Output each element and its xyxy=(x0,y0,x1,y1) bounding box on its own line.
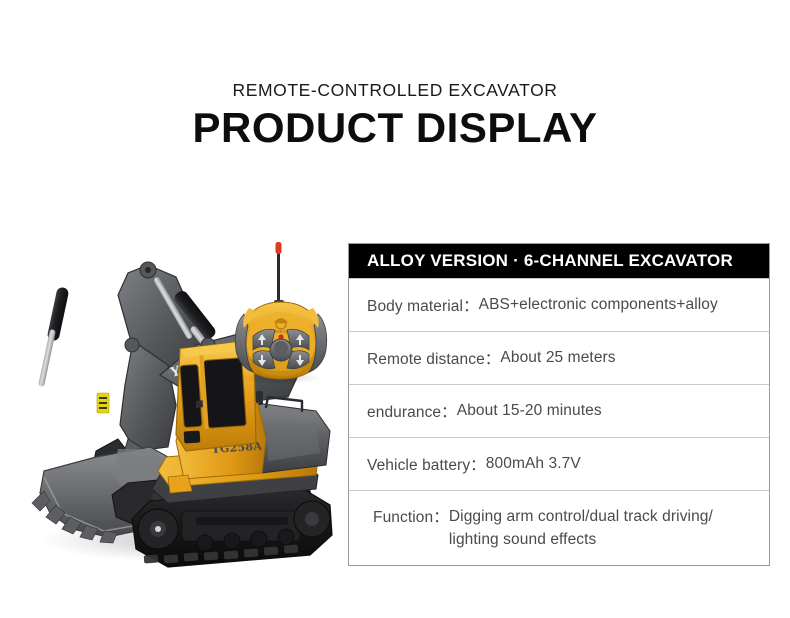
spec-value-line2: lighting sound effects xyxy=(449,531,597,548)
spec-label: endurance： xyxy=(367,400,457,422)
spec-row-function: Function： Digging arm control/dual track… xyxy=(349,490,769,565)
spec-value-line1: Digging arm control/dual track driving/ xyxy=(449,508,713,525)
remote-antenna xyxy=(274,242,284,308)
spec-table-header: ALLOY VERSION · 6-CHANNEL EXCAVATOR xyxy=(349,244,769,278)
spec-label: Body material： xyxy=(367,294,479,316)
remote-control-image: REMOTE xyxy=(222,238,340,383)
spec-row-remote-distance: Remote distance： About 25 meters xyxy=(349,331,769,384)
page-title: PRODUCT DISPLAY xyxy=(0,104,790,152)
spec-row-endurance: endurance： About 15-20 minutes xyxy=(349,384,769,437)
specification-table: ALLOY VERSION · 6-CHANNEL EXCAVATOR Body… xyxy=(348,243,770,566)
spec-label: Remote distance： xyxy=(367,347,500,369)
spec-row-body-material: Body material： ABS+electronic components… xyxy=(349,278,769,331)
spec-value: About 15-20 minutes xyxy=(457,402,602,420)
spec-label: Vehicle battery： xyxy=(367,453,486,475)
page-subtitle: REMOTE-CONTROLLED EXCAVATOR xyxy=(0,78,790,102)
svg-text:REMOTE: REMOTE xyxy=(274,330,288,334)
spec-value: ABS+electronic components+alloy xyxy=(479,296,718,314)
spec-label: Function： xyxy=(373,505,449,527)
cab-side-window xyxy=(180,364,202,427)
spec-value: About 25 meters xyxy=(500,349,615,367)
spec-value: 800mAh 3.7V xyxy=(486,455,581,473)
page-header: REMOTE-CONTROLLED EXCAVATOR PRODUCT DISP… xyxy=(0,78,790,152)
spec-row-vehicle-battery: Vehicle battery： 800mAh 3.7V xyxy=(349,437,769,490)
hydraulic-cylinder-stick xyxy=(38,286,69,387)
